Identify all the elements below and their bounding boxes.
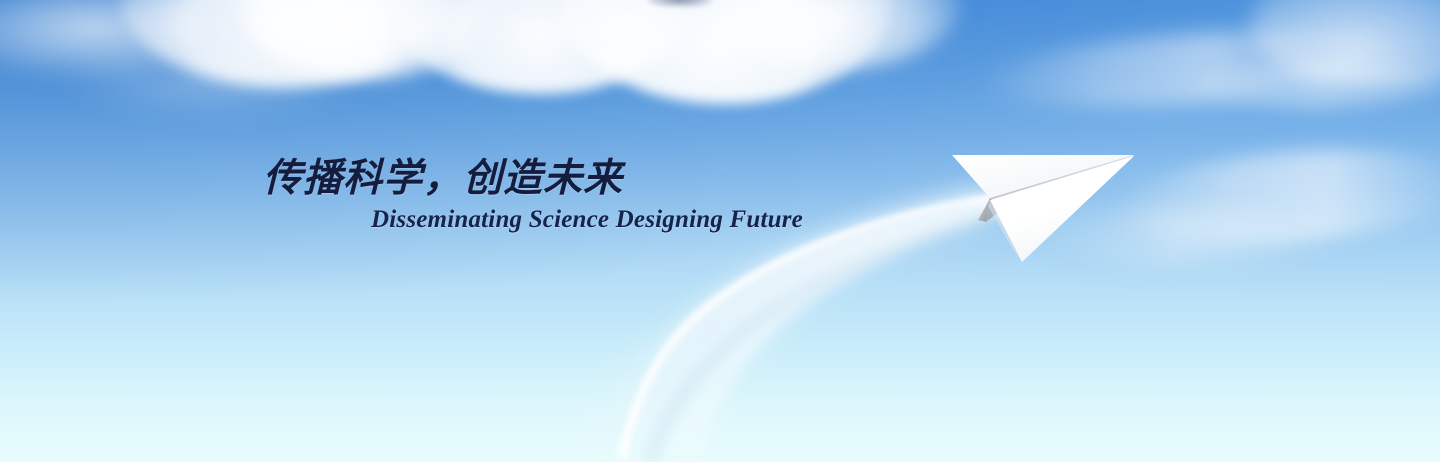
- cirrus-cloud: [978, 19, 1402, 118]
- cloud: [0, 360, 1440, 462]
- cropped-watermark-smudge: [648, 0, 712, 7]
- cloud: [60, 40, 360, 120]
- plane-keel: [978, 198, 990, 222]
- cirrus-cloud: [1107, 136, 1440, 257]
- cloud: [390, 0, 690, 94]
- contrail-body: [616, 196, 1060, 462]
- cirrus-cloud: [1180, 62, 1440, 110]
- plane-fold-ridge: [986, 155, 1134, 206]
- page-subtitle: Disseminating Science Designing Future: [371, 206, 803, 234]
- cloud: [1250, 0, 1440, 90]
- page-title: 传播科学，创造未来: [263, 147, 623, 203]
- paper-airplane-icon: [930, 130, 1160, 280]
- cloud: [120, 0, 450, 88]
- plane-near-wing: [990, 156, 1134, 262]
- cloud: [240, 0, 490, 80]
- plane-far-wing: [952, 155, 1134, 198]
- sky-banner: 传播科学，创造未来 Disseminating Science Designin…: [0, 0, 1440, 462]
- contrail-edge-shadow: [650, 208, 1038, 462]
- cirrus-cloud: [1040, 206, 1340, 266]
- cloud: [560, 0, 890, 104]
- plane-keel-shadow: [986, 198, 1004, 222]
- plane-wing-shading: [988, 200, 1022, 262]
- contrail-edge-bright: [622, 196, 1010, 458]
- cloud: [0, 0, 200, 76]
- cloud: [700, 0, 960, 70]
- contrail-inner-wisp: [626, 208, 980, 462]
- plane-wing-highlight: [992, 156, 1134, 204]
